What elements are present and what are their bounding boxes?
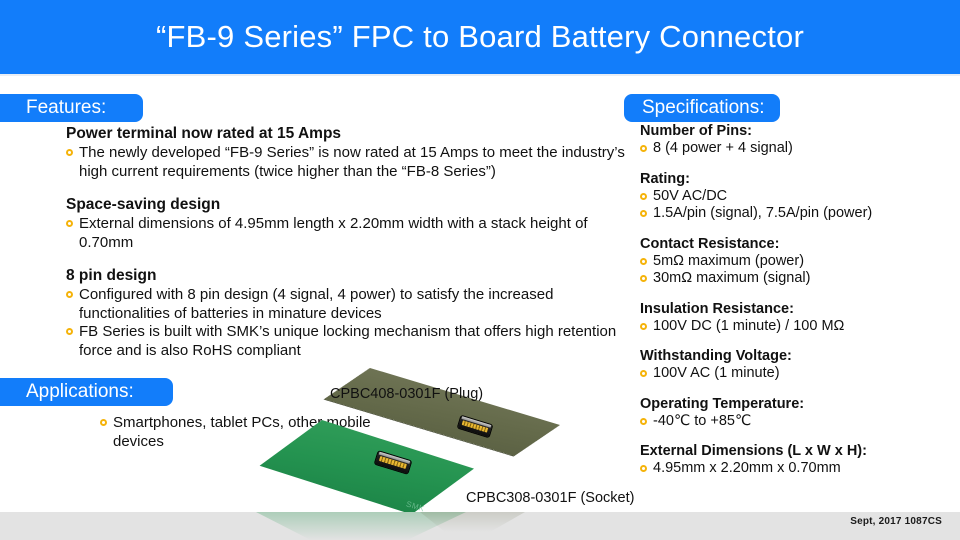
ring-bullet-icon <box>640 323 647 330</box>
spec-heading: Contact Resistance: <box>640 235 955 253</box>
spec-value: 100V AC (1 minute) <box>653 365 955 383</box>
ring-bullet-icon <box>640 258 647 265</box>
spec-group: Insulation Resistance: 100V DC (1 minute… <box>640 300 955 336</box>
spec-heading: Number of Pins: <box>640 122 955 140</box>
ring-bullet-icon <box>100 419 107 426</box>
list-item: The newly developed “FB-9 Series” is now… <box>66 144 636 181</box>
spec-bullet-list: 100V DC (1 minute) / 100 MΩ <box>640 318 955 336</box>
list-item: Configured with 8 pin design (4 signal, … <box>66 286 636 323</box>
spec-value: 5mΩ maximum (power) <box>653 253 955 271</box>
spec-heading: External Dimensions (L x W x H): <box>640 442 955 460</box>
applications-badge: Applications: <box>0 378 173 406</box>
applications-badge-label: Applications: <box>26 381 134 403</box>
specifications-badge-label: Specifications: <box>642 97 765 119</box>
socket-label: CPBC308-0301F (Socket) <box>466 490 634 506</box>
feature-bullet-text: Configured with 8 pin design (4 signal, … <box>79 286 636 323</box>
ring-bullet-icon <box>66 328 73 335</box>
ring-bullet-icon <box>640 145 647 152</box>
feature-bullet-list: Configured with 8 pin design (4 signal, … <box>66 286 636 360</box>
features-content: Power terminal now rated at 15 Amps The … <box>66 124 636 360</box>
spec-value: 8 (4 power + 4 signal) <box>653 140 955 158</box>
spec-value: 4.95mm x 2.20mm x 0.70mm <box>653 460 955 478</box>
ring-bullet-icon <box>640 193 647 200</box>
spec-value: 100V DC (1 minute) / 100 MΩ <box>653 318 955 336</box>
footer-note: Sept, 2017 1087CS <box>0 516 942 527</box>
ring-bullet-icon <box>66 291 73 298</box>
ring-bullet-icon <box>640 370 647 377</box>
ring-bullet-icon <box>640 418 647 425</box>
feature-group: 8 pin design Configured with 8 pin desig… <box>66 266 636 360</box>
plug-label: CPBC408-0301F (Plug) <box>330 386 483 402</box>
list-item: 100V AC (1 minute) <box>640 365 955 383</box>
spec-bullet-list: 4.95mm x 2.20mm x 0.70mm <box>640 460 955 478</box>
spec-heading: Operating Temperature: <box>640 395 955 413</box>
spec-value: 1.5A/pin (signal), 7.5A/pin (power) <box>653 205 955 223</box>
ring-bullet-icon <box>640 465 647 472</box>
list-item: 30mΩ maximum (signal) <box>640 270 955 288</box>
feature-heading: Power terminal now rated at 15 Amps <box>66 124 636 143</box>
socket-board-image: SMK <box>322 420 474 524</box>
feature-bullet-text: FB Series is built with SMK’s unique loc… <box>79 323 636 360</box>
spec-value: 50V AC/DC <box>653 188 955 206</box>
spec-group: Number of Pins: 8 (4 power + 4 signal) <box>640 122 955 158</box>
spec-heading: Insulation Resistance: <box>640 300 955 318</box>
spec-bullet-list: 100V AC (1 minute) <box>640 365 955 383</box>
list-item: -40℃ to +85℃ <box>640 413 955 431</box>
list-item: 8 (4 power + 4 signal) <box>640 140 955 158</box>
specifications-content: Number of Pins: 8 (4 power + 4 signal) R… <box>640 122 955 478</box>
spec-group: Contact Resistance: 5mΩ maximum (power) … <box>640 235 955 288</box>
list-item: External dimensions of 4.95mm length x 2… <box>66 215 636 252</box>
list-item: 50V AC/DC <box>640 188 955 206</box>
spec-bullet-list: 50V AC/DC 1.5A/pin (signal), 7.5A/pin (p… <box>640 188 955 223</box>
feature-bullet-text: The newly developed “FB-9 Series” is now… <box>79 144 636 181</box>
spec-group: Withstanding Voltage: 100V AC (1 minute) <box>640 347 955 383</box>
feature-heading: Space-saving design <box>66 195 636 214</box>
spec-group: External Dimensions (L x W x H): 4.95mm … <box>640 442 955 478</box>
feature-bullet-text: External dimensions of 4.95mm length x 2… <box>79 215 636 252</box>
feature-group: Power terminal now rated at 15 Amps The … <box>66 124 636 181</box>
feature-group: Space-saving design External dimensions … <box>66 195 636 252</box>
spec-group: Rating: 50V AC/DC 1.5A/pin (signal), 7.5… <box>640 170 955 223</box>
spec-bullet-list: 5mΩ maximum (power) 30mΩ maximum (signal… <box>640 253 955 288</box>
spec-group: Operating Temperature: -40℃ to +85℃ <box>640 395 955 431</box>
feature-bullet-list: External dimensions of 4.95mm length x 2… <box>66 215 636 252</box>
features-badge: Features: <box>0 94 143 122</box>
features-badge-label: Features: <box>26 97 106 119</box>
list-item: FB Series is built with SMK’s unique loc… <box>66 323 636 360</box>
ring-bullet-icon <box>66 220 73 227</box>
spec-bullet-list: 8 (4 power + 4 signal) <box>640 140 955 158</box>
spec-value: 30mΩ maximum (signal) <box>653 270 955 288</box>
list-item: 100V DC (1 minute) / 100 MΩ <box>640 318 955 336</box>
feature-bullet-list: The newly developed “FB-9 Series” is now… <box>66 144 636 181</box>
ring-bullet-icon <box>66 149 73 156</box>
ring-bullet-icon <box>640 275 647 282</box>
spec-heading: Rating: <box>640 170 955 188</box>
spec-bullet-list: -40℃ to +85℃ <box>640 413 955 431</box>
specifications-badge: Specifications: <box>624 94 780 122</box>
ring-bullet-icon <box>640 210 647 217</box>
list-item: 5mΩ maximum (power) <box>640 253 955 271</box>
page-title: “FB-9 Series” FPC to Board Battery Conne… <box>0 0 960 74</box>
feature-heading: 8 pin design <box>66 266 636 285</box>
spec-heading: Withstanding Voltage: <box>640 347 955 365</box>
title-divider <box>0 74 960 76</box>
spec-value: -40℃ to +85℃ <box>653 413 955 431</box>
list-item: 4.95mm x 2.20mm x 0.70mm <box>640 460 955 478</box>
slide-canvas: “FB-9 Series” FPC to Board Battery Conne… <box>0 0 960 540</box>
list-item: 1.5A/pin (signal), 7.5A/pin (power) <box>640 205 955 223</box>
